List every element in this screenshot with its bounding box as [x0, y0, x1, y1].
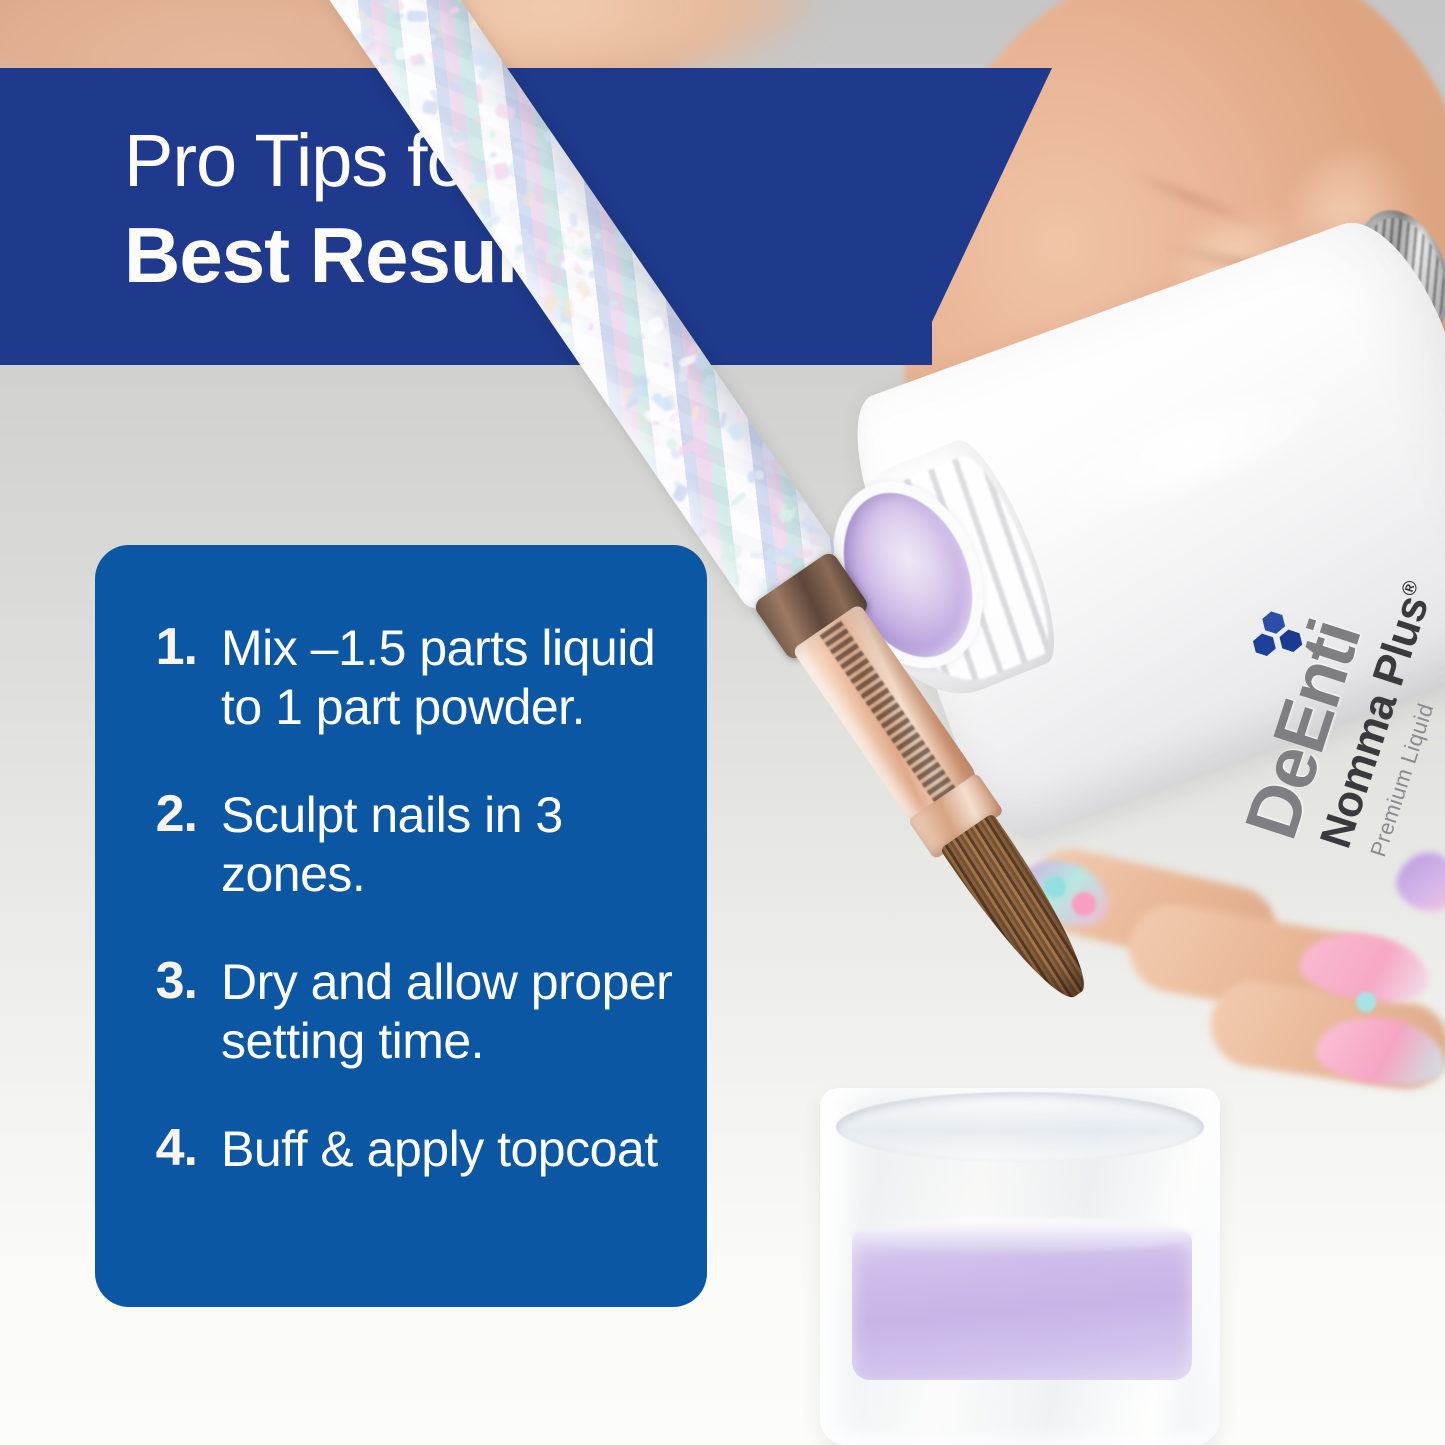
- dish-rim-icon: [836, 1092, 1204, 1162]
- list-item-number: 2.: [137, 786, 221, 842]
- list-item: 3.Dry and allow proper setting time.: [95, 953, 707, 1070]
- infographic-canvas: DeEnti Nomma Plus® Premium Liquid Pro Ti…: [0, 0, 1445, 1445]
- list-item: 2.Sculpt nails in 3 zones.: [95, 786, 707, 903]
- nail-gem-icon: [1072, 892, 1096, 916]
- list-item-text: Dry and allow proper setting time.: [221, 953, 681, 1070]
- page-title-line-2: Best Results: [124, 216, 884, 294]
- list-item-text: Mix –1.5 parts liquid to 1 part powder.: [221, 619, 681, 736]
- page-title-line-1: Pro Tips for: [124, 124, 884, 198]
- list-item-number: 3.: [137, 953, 221, 1009]
- list-item-text: Buff & apply topcoat: [221, 1120, 681, 1179]
- lavender-monomer-icon: [852, 1232, 1192, 1380]
- list-item: 4.Buff & apply topcoat: [95, 1120, 707, 1179]
- tips-list: 1.Mix –1.5 parts liquid to 1 part powder…: [95, 619, 707, 1229]
- tips-card: 1.Mix –1.5 parts liquid to 1 part powder…: [95, 545, 707, 1307]
- list-item: 1.Mix –1.5 parts liquid to 1 part powder…: [95, 619, 707, 736]
- list-item-text: Sculpt nails in 3 zones.: [221, 786, 681, 903]
- list-item-number: 4.: [137, 1120, 221, 1176]
- page-title: Pro Tips for Best Results: [124, 124, 884, 294]
- nail-gem-icon: [1044, 876, 1066, 898]
- list-item-number: 1.: [137, 619, 221, 675]
- liquid-surface-icon: [852, 1218, 1192, 1252]
- nail-gem-icon: [1356, 992, 1376, 1012]
